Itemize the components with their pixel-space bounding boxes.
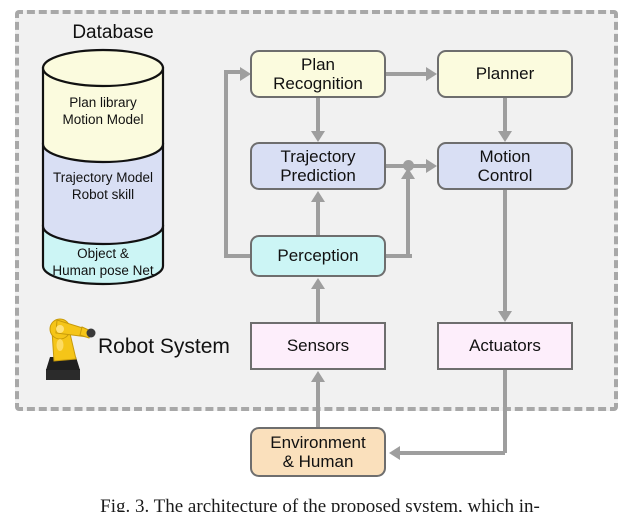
arrowhead-trajpred-to-motioncontrol [426, 159, 437, 173]
edge-motioncontrol-to-actuators [503, 190, 507, 311]
arrowhead-planrec-to-planner [426, 67, 437, 81]
figure-caption: Fig. 3. The architecture of the proposed… [0, 496, 640, 512]
node-actuators[interactable]: Actuators [437, 322, 573, 370]
edge-sensors-to-perception [316, 289, 320, 322]
db-segment-trajectory-model: Trajectory Model Robot skill [41, 156, 165, 218]
edge-actuators-to-environment [400, 451, 505, 455]
db-segment-line: Plan library [69, 95, 137, 112]
robot-system-legend: Robot System [30, 308, 235, 386]
edge-perception-left-stub [226, 254, 252, 258]
node-planner[interactable]: Planner [437, 50, 573, 98]
edge-environment-to-sensors [316, 382, 320, 428]
db-segment-line: Motion Model [62, 112, 143, 129]
node-line: Planner [476, 64, 535, 83]
robot-arm-icon [30, 311, 96, 383]
edge-perception-up-to-junction [406, 178, 410, 256]
database-cylinder: Plan library Motion Model Trajectory Mod… [41, 48, 165, 286]
node-line: Perception [277, 246, 358, 265]
node-line: Environment [270, 433, 365, 452]
node-line: Motion [478, 147, 533, 166]
edge-planrec-to-planner [386, 72, 426, 76]
arrowhead-environment-to-sensors [311, 371, 325, 382]
edge-junction-dot [403, 160, 414, 171]
db-segment-line: Robot skill [72, 187, 134, 204]
robot-system-label: Robot System [98, 335, 230, 359]
database-title: Database [48, 22, 178, 44]
db-segment-line: Object & [77, 246, 129, 263]
edge-feedback-vertical [224, 72, 228, 258]
node-line: Plan [273, 55, 363, 74]
figure-architecture-diagram: Database Plan library Motion Model Traje… [0, 0, 640, 512]
node-trajectory-prediction[interactable]: Trajectory Prediction [250, 142, 386, 190]
arrowhead-motioncontrol-to-actuators [498, 311, 512, 322]
arrowhead-sensors-to-perception [311, 278, 325, 289]
node-perception[interactable]: Perception [250, 235, 386, 277]
node-line: Trajectory [280, 147, 356, 166]
edge-planner-to-motioncontrol [503, 98, 507, 131]
node-line: & Human [270, 452, 365, 471]
edge-planrec-to-trajpred [316, 98, 320, 131]
db-segment-line: Human pose Net [52, 263, 153, 280]
arrowhead-planrec-to-trajpred [311, 131, 325, 142]
node-sensors[interactable]: Sensors [250, 322, 386, 370]
db-segment-line: Trajectory Model [53, 170, 153, 187]
node-motion-control[interactable]: Motion Control [437, 142, 573, 190]
db-segment-object-human-pose: Object & Human pose Net [41, 234, 165, 292]
node-environment-human[interactable]: Environment & Human [250, 427, 386, 477]
node-plan-recognition[interactable]: Plan Recognition [250, 50, 386, 98]
edge-actuators-down [503, 370, 507, 453]
edge-perception-to-trajpred [316, 202, 320, 235]
node-line: Sensors [287, 336, 349, 355]
node-line: Recognition [273, 74, 363, 93]
arrowhead-actuators-to-environment [389, 446, 400, 460]
arrowhead-perception-to-trajpred [311, 191, 325, 202]
node-line: Prediction [280, 166, 356, 185]
node-line: Control [478, 166, 533, 185]
node-line: Actuators [469, 336, 541, 355]
db-segment-plan-library: Plan library Motion Model [41, 80, 165, 144]
arrowhead-planner-to-motioncontrol [498, 131, 512, 142]
